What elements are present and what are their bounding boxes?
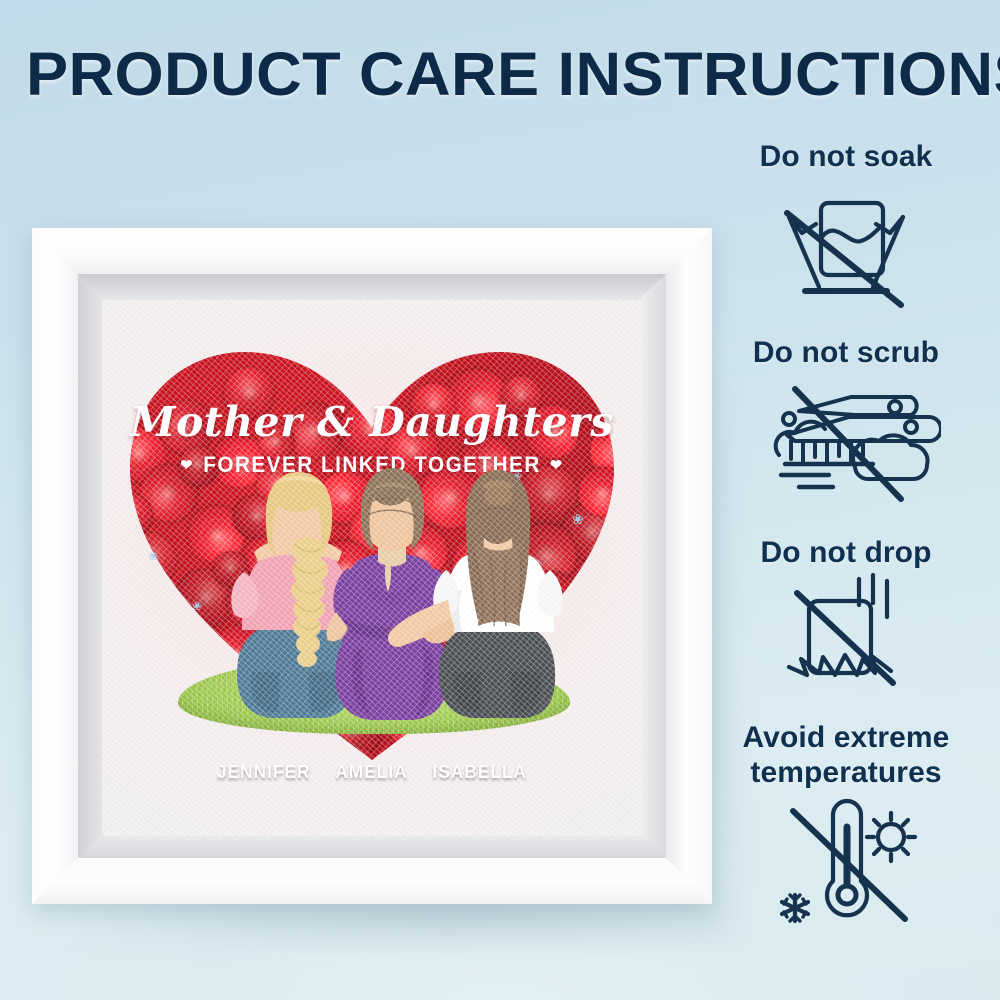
no-scrub-icon (700, 371, 992, 506)
artwork-backing: ❀ ❀ ❀ ❀ ❀ ❀ ❀ ❀ Mother & Daughters ❤FORE… (102, 300, 642, 836)
care-item-do-not-soak: Do not soak (700, 140, 992, 336)
well-wall-right (642, 274, 666, 858)
care-label-do-not-drop: Do not drop (700, 536, 992, 571)
care-item-do-not-drop: Do not drop (700, 536, 992, 721)
product-care-instructions-page: PRODUCT CARE INSTRUCTIONS Do not soak (0, 0, 1000, 1000)
name-amelia: AMELIA (335, 762, 407, 782)
page-title: PRODUCT CARE INSTRUCTIONS (26, 44, 1000, 105)
frame-bevel-right (666, 228, 712, 904)
family-figures (102, 300, 642, 836)
frame-inner-well: ❀ ❀ ❀ ❀ ❀ ❀ ❀ ❀ Mother & Daughters ❤FORE… (78, 274, 666, 858)
no-extreme-temperature-icon (700, 791, 992, 931)
well-wall-left (78, 274, 102, 858)
care-label-avoid-extreme-temperatures-line2: temperatures (700, 756, 992, 791)
care-label-do-not-scrub: Do not scrub (700, 336, 992, 371)
name-jennifer: JENNIFER (217, 762, 311, 782)
frame-bevel-bottom (32, 858, 712, 904)
frame-bevel-top (32, 228, 712, 274)
care-label-avoid-extreme-temperatures-line1: Avoid extreme (700, 721, 992, 756)
well-wall-top (78, 274, 666, 300)
care-item-do-not-scrub: Do not scrub (700, 336, 992, 536)
no-drop-icon (700, 571, 992, 706)
care-label-do-not-soak: Do not soak (700, 140, 992, 175)
care-item-avoid-extreme-temperatures: Avoid extreme temperatures (700, 721, 992, 971)
name-isabella: ISABELLA (432, 762, 527, 782)
no-soak-icon (700, 175, 992, 310)
artwork-names: JENNIFERAMELIAISABELLA (116, 762, 629, 783)
frame-bevel-left (32, 228, 78, 904)
well-wall-bottom (78, 836, 666, 858)
care-instructions-list: Do not soak Do (700, 140, 992, 971)
shadow-box-frame: ❀ ❀ ❀ ❀ ❀ ❀ ❀ ❀ Mother & Daughters ❤FORE… (32, 228, 712, 904)
